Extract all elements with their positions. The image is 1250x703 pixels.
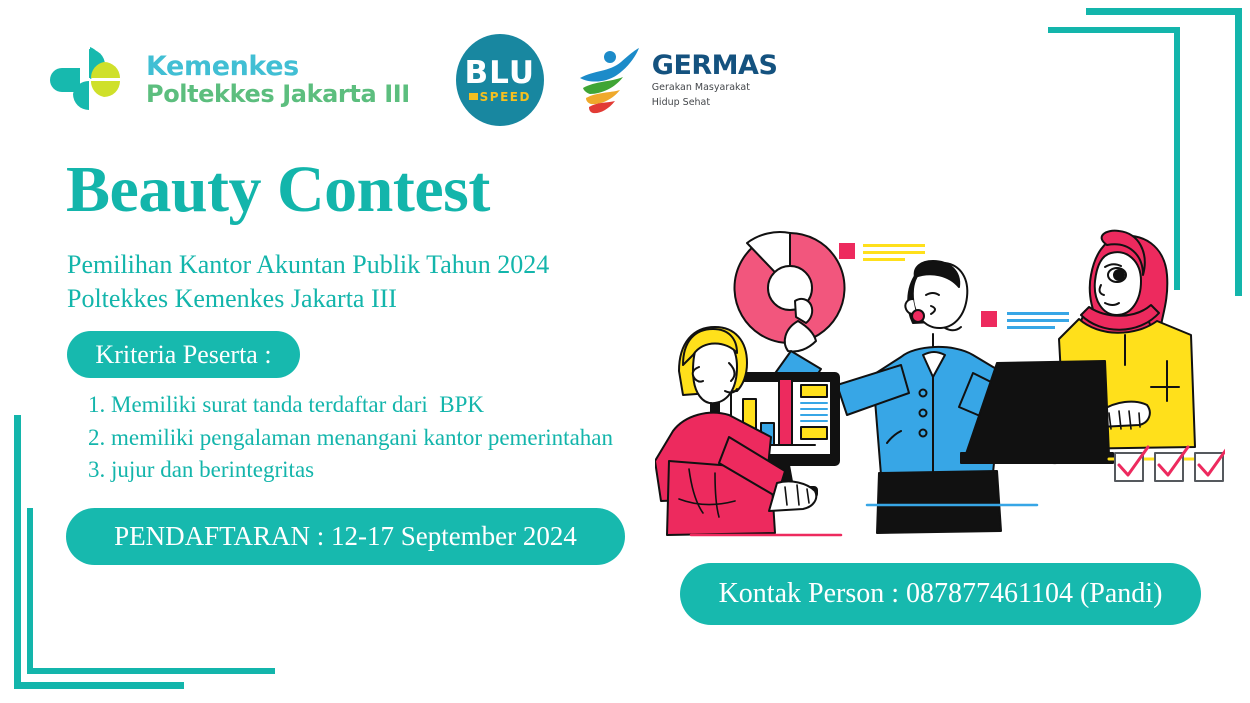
germas-figure-mark xyxy=(577,44,645,116)
logo-row: Kemenkes Poltekkes Jakarta III BLU SPEED xyxy=(50,34,777,126)
bracket-vertical-line xyxy=(14,415,21,689)
kriteria-peserta-badge: Kriteria Peserta : xyxy=(67,331,300,378)
bracket-horizontal-line xyxy=(14,682,184,689)
speed-dash-icon xyxy=(469,93,478,100)
criteria-item: 2. memiliki pengalaman menangani kantor … xyxy=(88,422,613,455)
blu-logo-word: BLU xyxy=(465,58,535,89)
germas-logo-title: GERMAS xyxy=(652,52,778,79)
blu-logo-circle: BLU SPEED xyxy=(456,34,544,126)
kontak-person-badge: Kontak Person : 087877461104 (Pandi) xyxy=(680,563,1201,625)
kemenkes-logo-text: Kemenkes Poltekkes Jakarta III xyxy=(146,53,410,107)
checkbox-group xyxy=(1115,447,1225,481)
criteria-item: 1. Memiliki surat tanda terdaftar dari B… xyxy=(88,389,613,422)
accent-lines-yellow xyxy=(839,243,925,261)
page-title: Beauty Contest xyxy=(66,157,490,223)
bracket-vertical-line xyxy=(1235,8,1242,296)
kemenkes-logo-line1: Kemenkes xyxy=(146,53,410,81)
germas-logo-text: GERMAS Gerakan Masyarakat Hidup Sehat xyxy=(652,52,778,109)
donut-chart xyxy=(735,232,845,343)
bracket-horizontal-line xyxy=(1086,8,1242,15)
team-analytics-illustration xyxy=(655,215,1225,545)
page-subtitle-line1: Pemilihan Kantor Akuntan Publik Tahun 20… xyxy=(67,248,549,282)
bracket-vertical-line xyxy=(27,508,33,674)
kemenkes-flower-mark xyxy=(50,41,134,119)
kemenkes-logo-line2: Poltekkes Jakarta III xyxy=(146,82,410,107)
blu-logo: BLU SPEED xyxy=(456,34,544,126)
germas-logo-subtitle-line1: Gerakan Masyarakat xyxy=(652,82,778,94)
pendaftaran-badge: PENDAFTARAN : 12-17 September 2024 xyxy=(66,508,625,565)
criteria-list: 1. Memiliki surat tanda terdaftar dari B… xyxy=(88,389,613,487)
poster-canvas: Kemenkes Poltekkes Jakarta III BLU SPEED xyxy=(0,0,1250,703)
page-subtitle-line2: Poltekkes Kemenkes Jakarta III xyxy=(67,282,549,316)
bracket-horizontal-line xyxy=(1048,27,1180,33)
germas-logo-subtitle-line2: Hidup Sehat xyxy=(652,97,778,109)
accent-lines-blue xyxy=(981,311,1069,329)
blu-logo-tagline-text: SPEED xyxy=(480,91,531,103)
bracket-horizontal-line xyxy=(27,668,275,674)
blu-logo-tagline: SPEED xyxy=(469,91,531,103)
criteria-item: 3. jujur dan berintegritas xyxy=(88,454,613,487)
germas-logo: GERMAS Gerakan Masyarakat Hidup Sehat xyxy=(577,44,778,116)
page-subtitle: Pemilihan Kantor Akuntan Publik Tahun 20… xyxy=(67,248,549,316)
kemenkes-logo: Kemenkes Poltekkes Jakarta III xyxy=(50,41,410,119)
